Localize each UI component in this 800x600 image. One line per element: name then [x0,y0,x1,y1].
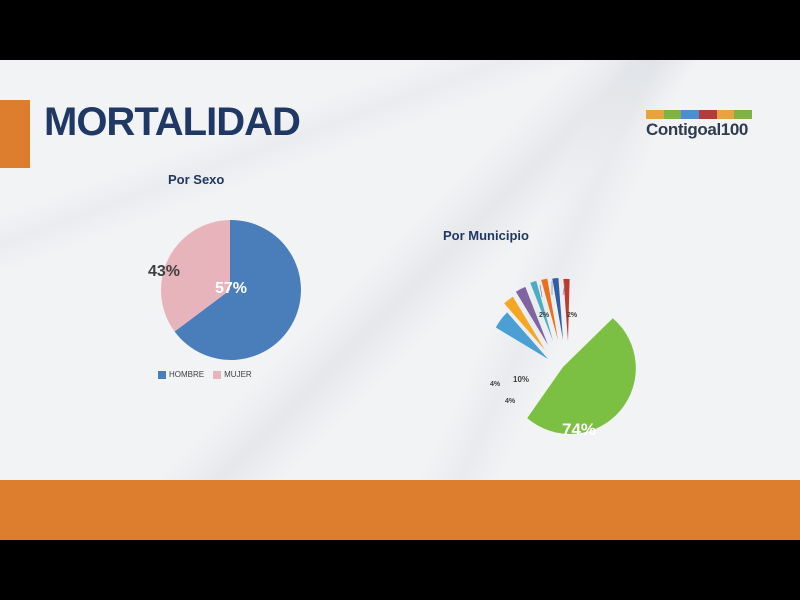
pie-chart-por-municipio [400,245,700,460]
pie-label-ags: 74% [562,420,596,440]
chart-title-por-sexo: Por Sexo [168,172,224,187]
left-orange-tab [0,100,30,168]
legend-label-mujer: MUJER [224,370,252,379]
chart-title-por-municipio: Por Municipio [443,228,529,243]
pie-label-mujer: 43% [148,263,180,281]
logo-text-100: 100 [721,120,748,139]
pie-label-jm: 2% [567,312,577,319]
bottom-orange-band [0,480,800,540]
logo: Contigoal100 [646,110,752,139]
pie-label-foraneos: 4% [505,398,515,405]
slide: MORTALIDAD Contigoal100 Por Sexo 57% 43%… [0,60,800,540]
legend-por-sexo: HOMBRE MUJER [158,370,261,379]
logo-text: Contigoal100 [646,121,752,139]
logo-bars [646,110,752,119]
pie-label-pa: 10% [513,375,529,384]
page-title: MORTALIDAD [44,100,300,145]
pie-label-sfr: 4% [490,381,500,388]
legend-item-mujer: MUJER [213,370,252,379]
logo-text-contigo: Contigo [646,120,707,139]
legend-label-hombre: HOMBRE [169,370,204,379]
legend-swatch-mujer [213,371,221,379]
pie-label-hombre: 57% [215,280,247,298]
pie-label-el-llano: 2% [539,312,549,319]
legend-item-hombre: HOMBRE [158,370,204,379]
pie-slice-asientos [552,278,563,340]
logo-text-al: al [707,120,720,139]
legend-swatch-hombre [158,371,166,379]
